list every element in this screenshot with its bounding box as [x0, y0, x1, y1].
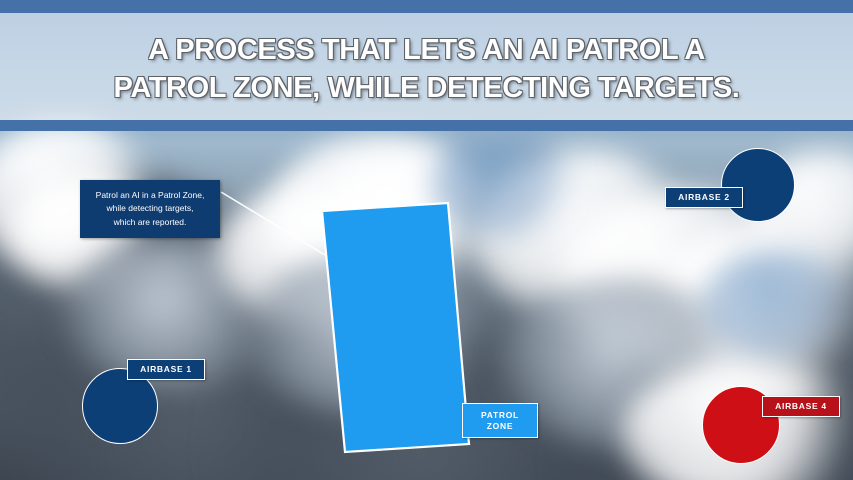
presentation-slide: A PROCESS THAT LETS AN AI PATROL A PATRO…: [0, 0, 853, 480]
airbase-4-label[interactable]: AIRBASE 4: [762, 396, 840, 417]
callout-text: Patrol an AI in a Patrol Zone, while det…: [89, 189, 212, 229]
callout-box[interactable]: Patrol an AI in a Patrol Zone, while det…: [80, 180, 220, 238]
airbase-2-circle[interactable]: [721, 148, 795, 222]
patrol-zone-label[interactable]: PATROL ZONE: [462, 403, 538, 438]
airbase-1-label[interactable]: AIRBASE 1: [127, 359, 205, 380]
callout-connector-line: [221, 192, 330, 258]
airbase-2-label[interactable]: AIRBASE 2: [665, 187, 743, 208]
patrol-zone-polygon[interactable]: [322, 203, 469, 452]
